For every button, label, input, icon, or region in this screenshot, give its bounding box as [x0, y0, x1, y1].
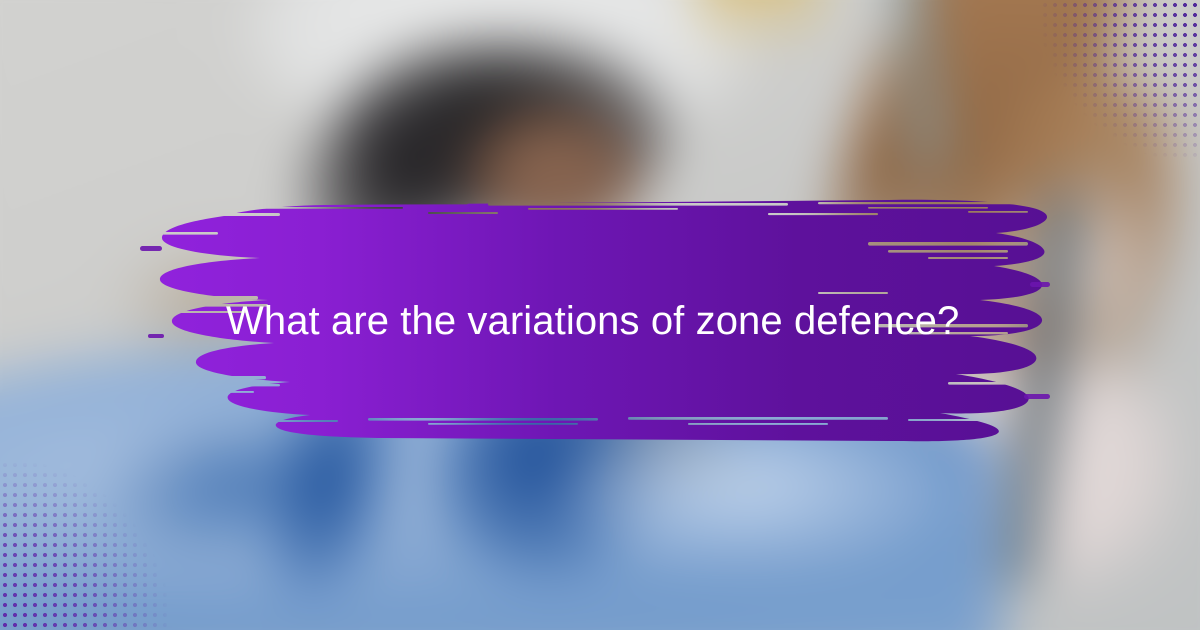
photo-shelf [696, 0, 823, 54]
share-card: What are the variations of zone defence? [0, 0, 1200, 630]
page-title: What are the variations of zone defence? [226, 296, 1026, 346]
